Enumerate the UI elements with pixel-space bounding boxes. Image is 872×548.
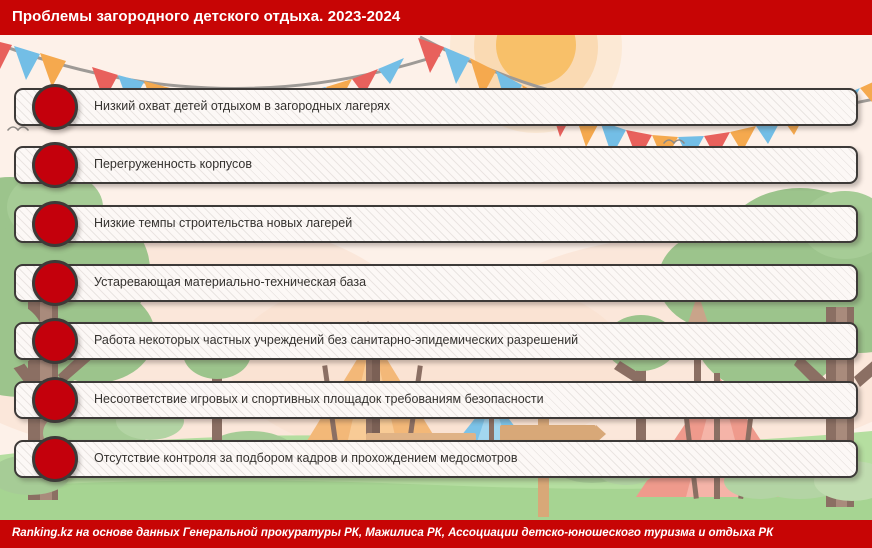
list-item[interactable]: Перегруженность корпусов [14, 146, 858, 184]
list-item-label: Несоответствие игровых и спортивных площ… [94, 393, 844, 407]
bullet-circle-icon [32, 84, 78, 130]
list-item-label: Работа некоторых частных учреждений без … [94, 334, 844, 348]
bullet-circle-icon [32, 318, 78, 364]
bullet-circle-icon [32, 201, 78, 247]
footer-bar: Ranking.kz на основе данных Генеральной … [0, 520, 872, 548]
list-item[interactable]: Низкие темпы строительства новых лагерей [14, 205, 858, 243]
list-item-label: Перегруженность корпусов [94, 158, 844, 172]
list-item[interactable]: Устаревающая материально-техническая баз… [14, 264, 858, 302]
list-item-label: Отсутствие контроля за подбором кадров и… [94, 452, 844, 466]
source-attribution: Ranking.kz на основе данных Генеральной … [12, 527, 773, 539]
list-item[interactable]: Отсутствие контроля за подбором кадров и… [14, 440, 858, 478]
list-item[interactable]: Низкий охват детей отдыхом в загородных … [14, 88, 858, 126]
list-item-label: Низкий охват детей отдыхом в загородных … [94, 100, 844, 114]
list-item[interactable]: Несоответствие игровых и спортивных площ… [14, 381, 858, 419]
list-item-label: Низкие темпы строительства новых лагерей [94, 217, 844, 231]
bullet-circle-icon [32, 436, 78, 482]
list-item-label: Устаревающая материально-техническая баз… [94, 276, 844, 290]
bullet-circle-icon [32, 142, 78, 188]
header-bar: Проблемы загородного детского отдыха. 20… [0, 0, 872, 35]
page-title: Проблемы загородного детского отдыха. 20… [12, 8, 400, 25]
list-item[interactable]: Работа некоторых частных учреждений без … [14, 322, 858, 360]
bullet-circle-icon [32, 377, 78, 423]
bullet-circle-icon [32, 260, 78, 306]
infographic-root: Проблемы загородного детского отдыха. 20… [0, 0, 872, 548]
